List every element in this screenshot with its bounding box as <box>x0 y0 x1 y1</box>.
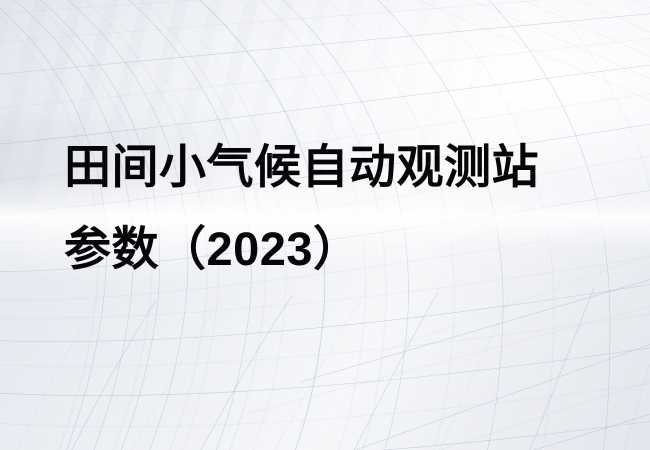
page-title: 田间小气候自动观测站 参数（2023） <box>64 126 604 290</box>
title-slide: 田间小气候自动观测站 参数（2023） <box>0 0 650 450</box>
title-line-1: 田间小气候自动观测站 <box>64 126 604 208</box>
title-line-2: 参数（2023） <box>64 208 604 290</box>
